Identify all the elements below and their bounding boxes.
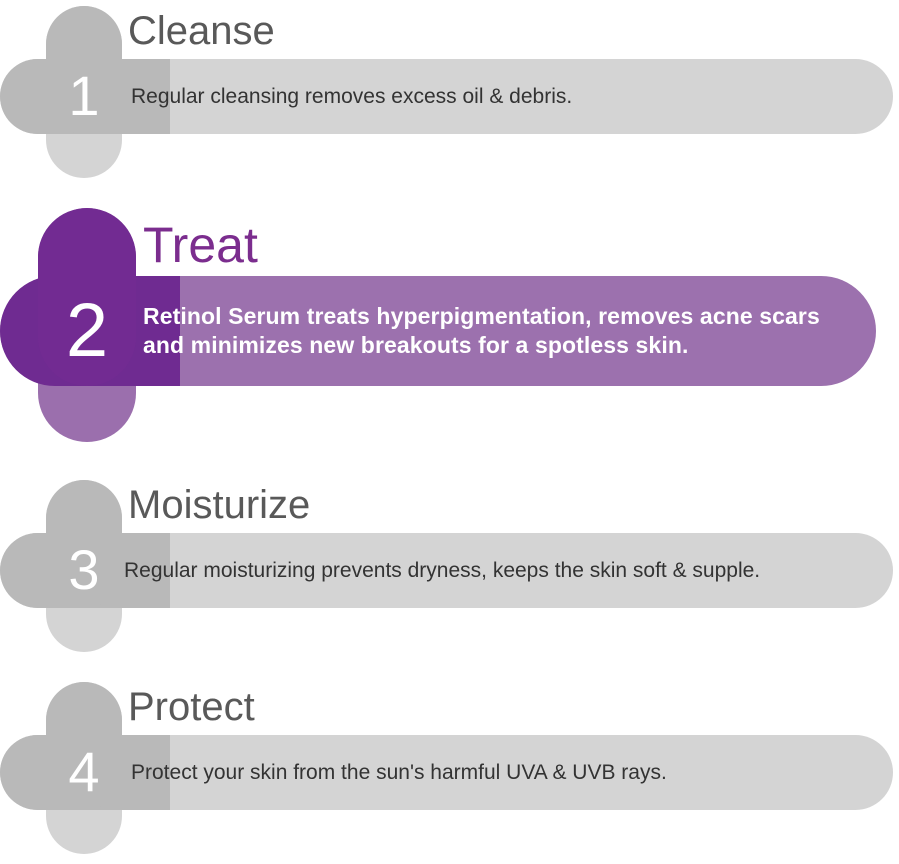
step-heading-4: Protect — [128, 687, 255, 727]
step-list: 1 Cleanse Regular cleansing removes exce… — [0, 0, 899, 864]
step-description-2: Retinol Serum treats hyperpigmentation, … — [143, 302, 865, 360]
step-description-bar-4: Protect your skin from the sun's harmful… — [0, 735, 893, 810]
step-description-bar-2: Retinol Serum treats hyperpigmentation, … — [0, 276, 876, 386]
step-heading-2: Treat — [143, 220, 258, 270]
step-heading-3: Moisturize — [128, 485, 310, 525]
step-item-4[interactable]: 4 Protect Protect your skin from the sun… — [0, 670, 899, 864]
step-item-2[interactable]: 2 Treat Retinol Serum treats hyperpigmen… — [0, 200, 899, 470]
step-description-4: Protect your skin from the sun's harmful… — [131, 761, 667, 785]
step-item-3[interactable]: 3 Moisturize Regular moisturizing preven… — [0, 470, 899, 670]
step-description-bar-1: Regular cleansing removes excess oil & d… — [0, 59, 893, 134]
step-item-1[interactable]: 1 Cleanse Regular cleansing removes exce… — [0, 0, 899, 200]
step-description-bar-3: Regular moisturizing prevents dryness, k… — [0, 533, 893, 608]
step-description-3: Regular moisturizing prevents dryness, k… — [124, 559, 760, 583]
step-heading-1: Cleanse — [128, 11, 275, 51]
step-description-1: Regular cleansing removes excess oil & d… — [131, 85, 572, 109]
